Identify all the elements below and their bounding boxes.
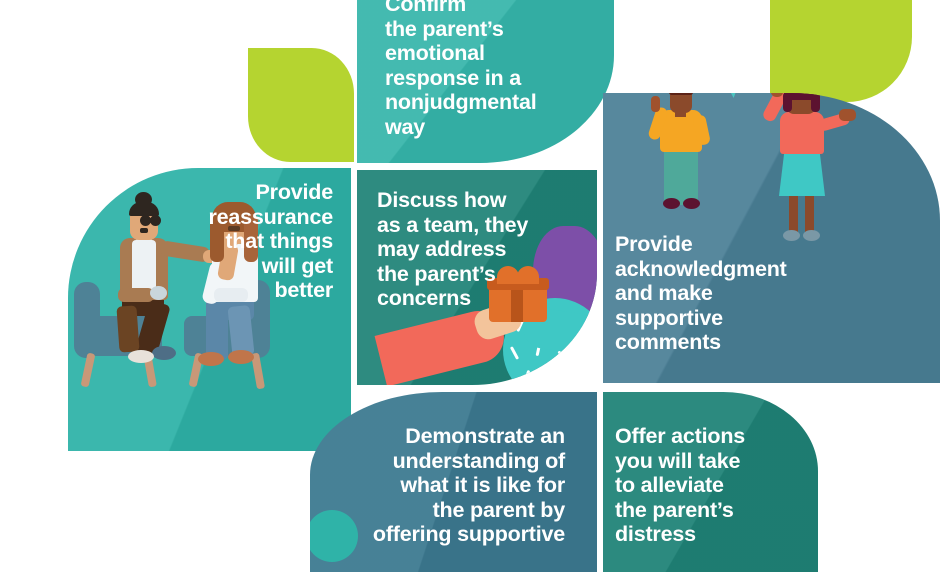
panel-confirm-text: Confirm the parent’s emotional response …: [385, 0, 615, 140]
panel-acknowledgment-text: Provide acknowledgment and make supporti…: [615, 232, 935, 355]
infographic-canvas: Confirm the parent’s emotional response …: [0, 0, 940, 529]
panel-reassurance-text: Provide reassurance that things will get…: [80, 180, 333, 303]
accent-lime-top-right: [770, 0, 912, 102]
panel-discuss-text: Discuss how as a team, they may address …: [377, 188, 597, 311]
accent-lime-top-left: [248, 48, 354, 162]
